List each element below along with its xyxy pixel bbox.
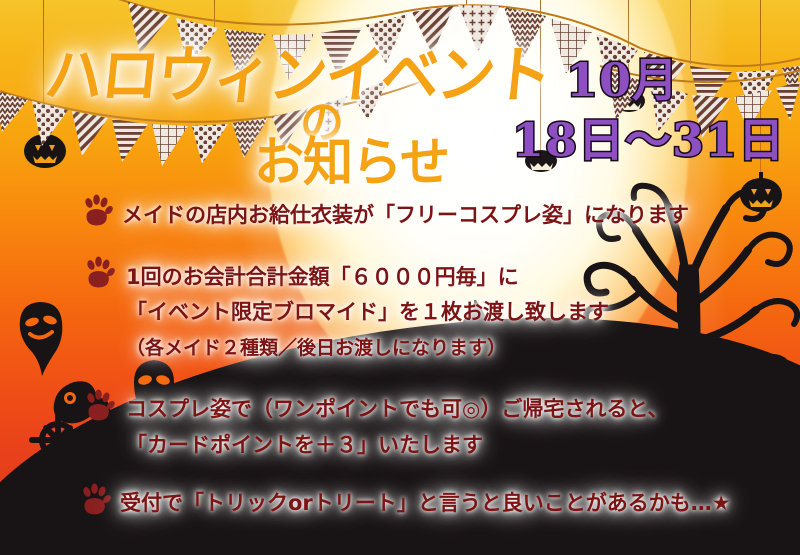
paw-print-icon bbox=[80, 194, 114, 228]
hanging-jack-o-lantern-icon bbox=[22, 128, 68, 170]
paw-print-icon bbox=[82, 389, 116, 423]
halloween-event-poster: ハロウィンイベント の お知らせ 10月 18日〜31日 メイドの店内お給仕衣装… bbox=[0, 0, 800, 555]
bullet-1-line-1: メイドの店内お給仕衣装が「フリーコスプレ姿」になります bbox=[122, 199, 689, 229]
hanging-string bbox=[690, 0, 691, 64]
date-month: 10月 bbox=[566, 44, 679, 110]
title-subtitle: お知らせ bbox=[254, 120, 449, 196]
bullet-3-line-1: コスプレ姿で（ワンポイントでも可◎）ご帰宅されると、 bbox=[126, 393, 668, 423]
date-day-range: 18日〜31日 bbox=[512, 104, 785, 170]
page-title: ハロウィンイベント bbox=[41, 25, 554, 114]
bullet-3-line-2: 「カードポイントを＋３」いたします bbox=[126, 429, 483, 459]
paw-print-icon bbox=[82, 256, 116, 290]
bullet-2-line-2: 「イベント限定ブロマイド」を１枚お渡し致します bbox=[126, 296, 609, 326]
bullet-2-line-1: 1回のお会計合計金額「６０００円毎」に bbox=[126, 261, 519, 291]
bullet-2-line-3: （各メイド２種類／後日お渡しになります） bbox=[126, 333, 506, 360]
paw-print-icon bbox=[78, 483, 112, 517]
hanging-jack-o-lantern-icon bbox=[738, 172, 784, 214]
hanging-string bbox=[466, 0, 467, 26]
ghost-icon bbox=[12, 300, 68, 378]
bullet-4-line-1: 受付で「トリックorトリート」と言うと良いことがあるかも…★ bbox=[120, 487, 731, 517]
